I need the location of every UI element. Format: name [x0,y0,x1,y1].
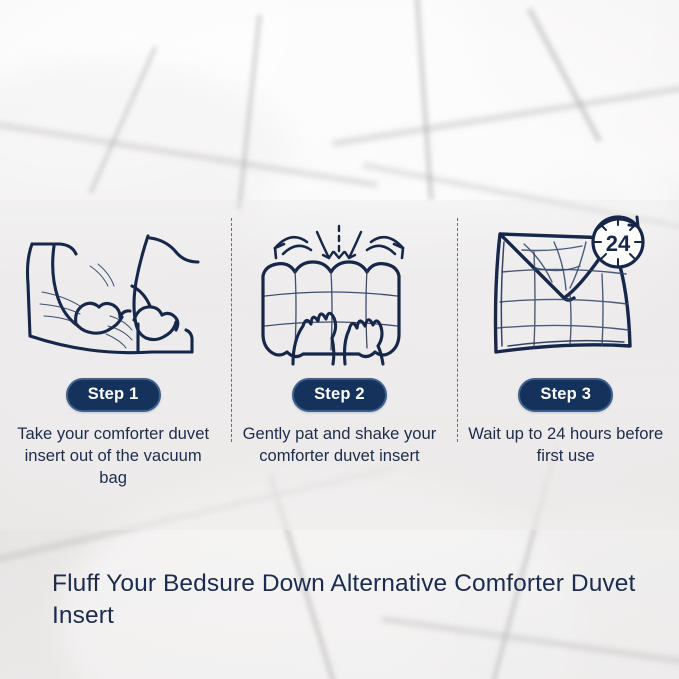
headline: Fluff Your Bedsure Down Alternative Comf… [52,568,658,633]
steps-row: Step 1 Take your comforter duvet insert … [0,214,679,489]
infographic-poster: Step 1 Take your comforter duvet insert … [0,0,679,679]
step-2-badge: Step 2 [292,378,387,412]
step-column-3: 24 Step 3 Wait up to 24 hours before fir… [453,214,679,489]
step-1-description: Take your comforter duvet insert out of … [14,423,212,489]
hands-opening-vacuum-bag-icon [20,220,206,366]
step-column-2: Step 2 Gently pat and shake your comfort… [226,214,452,489]
clock-24-label: 24 [605,231,630,256]
step-1-badge: Step 1 [66,378,161,412]
step-2-description: Gently pat and shake your comforter duve… [240,423,438,467]
step-3-illustration: 24 [453,214,679,366]
clock-24-badge: 24 [593,217,643,267]
hands-patting-comforter-icon [255,214,423,366]
step-3-badge: Step 3 [518,378,613,412]
step-3-description: Wait up to 24 hours before first use [467,423,665,467]
step-2-illustration [226,214,452,366]
step-1-illustration [0,214,226,366]
step-column-1: Step 1 Take your comforter duvet insert … [0,214,226,489]
comforter-with-24-hour-clock-icon: 24 [478,216,654,366]
